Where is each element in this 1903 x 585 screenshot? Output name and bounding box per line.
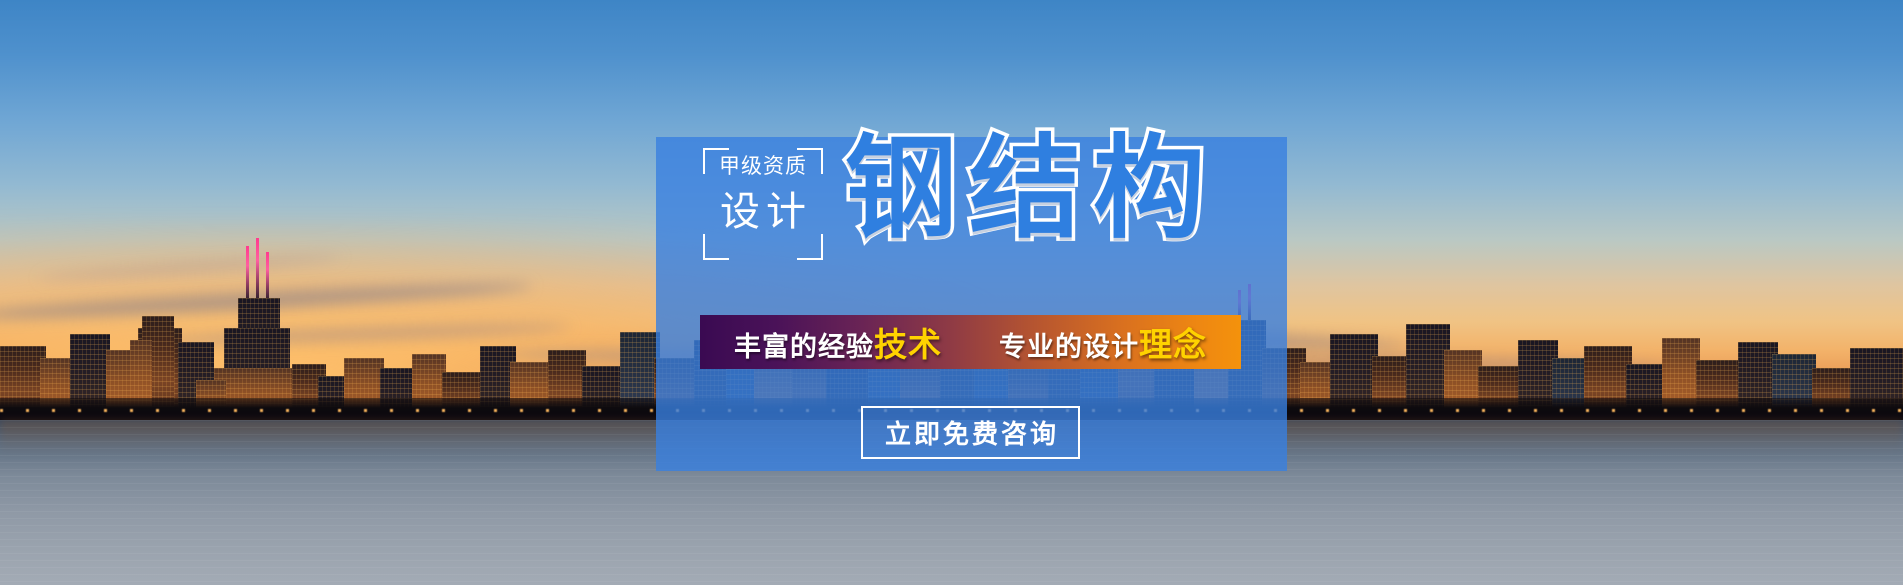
tower-antenna: [246, 246, 249, 302]
tagline-bar: 丰富的经验 技术 专业的设计 理念: [700, 315, 1241, 369]
tagline-right: 专业的设计 理念: [999, 318, 1207, 366]
tagline-right-plain: 专业的设计: [999, 325, 1139, 364]
bracket-corner-bottom-right: [797, 234, 823, 260]
tagline-left-accent: 技术: [874, 318, 942, 366]
tagline-right-accent: 理念: [1139, 318, 1207, 366]
hero-banner: 甲级资质 设计 钢结构 丰富的经验 技术 专业的设计 理念 立即免费咨询: [0, 0, 1903, 585]
tower-antenna: [266, 252, 269, 302]
tower-antenna: [256, 238, 259, 302]
badge-kicker-text: 甲级资质: [703, 156, 823, 177]
tagline-left-plain: 丰富的经验: [734, 325, 874, 364]
headline-title: 钢结构: [845, 133, 1217, 245]
tagline-left: 丰富的经验 技术: [734, 318, 942, 366]
badge-main-text: 设计: [703, 192, 823, 232]
qualification-badge: 甲级资质 设计: [703, 148, 823, 260]
bracket-corner-bottom-left: [703, 234, 729, 260]
free-consultation-button[interactable]: 立即免费咨询: [861, 406, 1080, 459]
